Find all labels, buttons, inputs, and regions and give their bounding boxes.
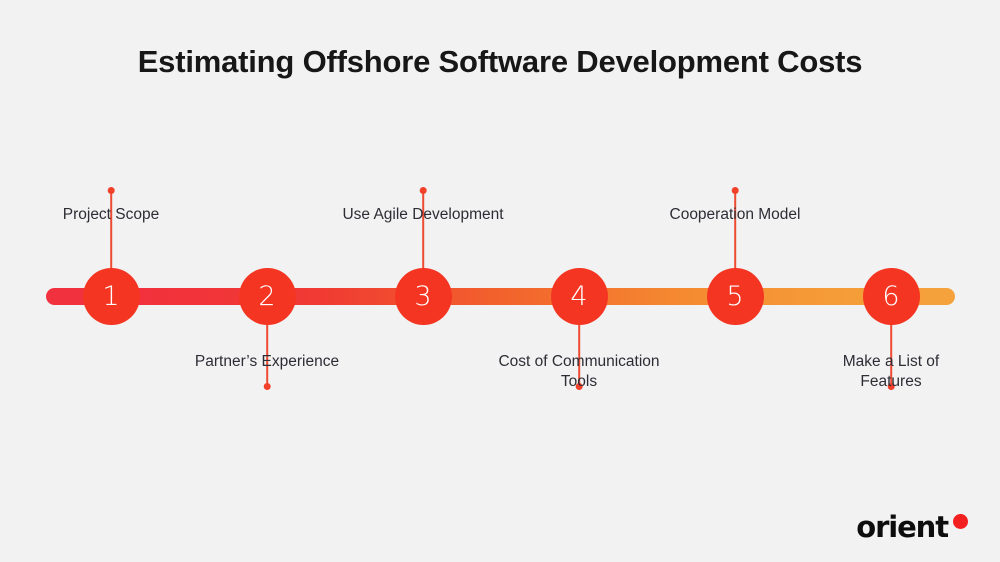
- connector-dot-icon: [420, 187, 427, 194]
- step-label-line: Partner’s Experience: [137, 352, 397, 372]
- step-label-line: Project Scope: [0, 205, 241, 225]
- step-number-badge: 4: [551, 268, 608, 325]
- step-connector-line: [110, 190, 112, 268]
- step-label: Make a List ofFeatures: [761, 352, 1000, 393]
- step-label-line: Features: [761, 372, 1000, 392]
- step-label: Cost of CommunicationTools: [449, 352, 709, 393]
- timeline-step-6[interactable]: 6Make a List ofFeatures: [863, 268, 920, 325]
- timeline-step-3[interactable]: 3Use Agile Development: [395, 268, 452, 325]
- infographic-canvas: Estimating Offshore Software Development…: [0, 0, 1000, 562]
- connector-dot-icon: [108, 187, 115, 194]
- step-label-line: Make a List of: [761, 352, 1000, 372]
- step-label: Partner’s Experience: [137, 352, 397, 372]
- brand-logo: orient: [856, 513, 968, 542]
- step-label-line: Use Agile Development: [293, 205, 553, 225]
- timeline-step-2[interactable]: 2Partner’s Experience: [239, 268, 296, 325]
- step-number-badge: 2: [239, 268, 296, 325]
- page-title: Estimating Offshore Software Development…: [0, 44, 1000, 80]
- connector-dot-icon: [264, 383, 271, 390]
- step-label: Project Scope: [0, 205, 241, 225]
- timeline-step-4[interactable]: 4Cost of CommunicationTools: [551, 268, 608, 325]
- timeline-gradient-bar: [46, 288, 955, 305]
- connector-dot-icon: [732, 187, 739, 194]
- step-number-badge: 1: [83, 268, 140, 325]
- timeline-step-1[interactable]: 1Project Scope: [83, 268, 140, 325]
- step-connector-line: [734, 190, 736, 268]
- step-label-line: Cooperation Model: [605, 205, 865, 225]
- step-number-badge: 3: [395, 268, 452, 325]
- step-number-badge: 5: [707, 268, 764, 325]
- step-label-line: Tools: [449, 372, 709, 392]
- step-label: Use Agile Development: [293, 205, 553, 225]
- timeline-step-5[interactable]: 5Cooperation Model: [707, 268, 764, 325]
- step-label-line: Cost of Communication: [449, 352, 709, 372]
- step-connector-line: [422, 190, 424, 268]
- step-number-badge: 6: [863, 268, 920, 325]
- brand-wordmark: orient: [856, 513, 948, 542]
- step-label: Cooperation Model: [605, 205, 865, 225]
- brand-dot-icon: [953, 514, 968, 529]
